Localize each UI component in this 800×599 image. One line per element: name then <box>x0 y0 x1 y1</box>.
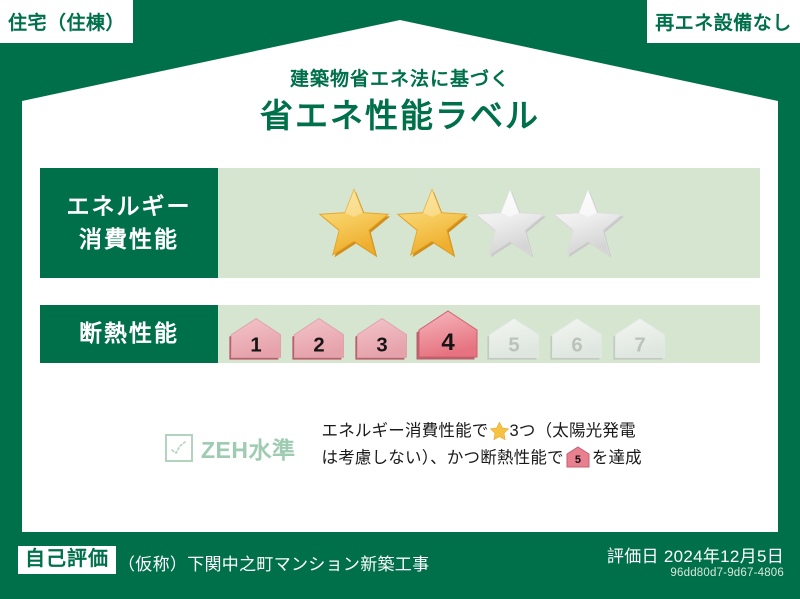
star-filled-icon <box>316 186 392 260</box>
insulation-performance-body: 1234567 <box>218 305 760 363</box>
energy-performance-label-line1: エネルギー <box>67 190 192 223</box>
building-type-tag: 住宅（住棟） <box>0 0 133 43</box>
star-filled-icon <box>394 186 470 260</box>
zeh-description: エネルギー消費性能で3つ（太陽光発電 は考慮しない）、かつ断熱性能で 5 を達成 <box>322 418 642 477</box>
energy-performance-label: 住宅（住棟） 再エネ設備なし 建築物省エネ法に基づく 省エネ性能ラベル エネルギ… <box>0 0 800 599</box>
title-subtitle: 建築物省エネ法に基づく <box>0 70 800 91</box>
insulation-level-number: 6 <box>571 335 582 357</box>
zeh-badge-label: ZEH水準 <box>201 431 296 465</box>
insulation-level-number: 3 <box>376 335 387 357</box>
insulation-level-2: 2 <box>289 316 349 360</box>
insulation-level-4: 4 <box>415 308 481 360</box>
self-evaluation-badge: 自己評価 <box>18 546 116 574</box>
zeh-desc-l1-b: 3つ（太陽光発電 <box>510 422 636 440</box>
insulation-level-number: 5 <box>508 335 519 357</box>
insulation-level-1: 1 <box>226 316 286 360</box>
evaluation-id: 96dd80d7-9d67-4806 <box>670 567 784 579</box>
energy-performance-label-box: エネルギー 消費性能 <box>40 168 218 278</box>
page-title: 省エネ性能ラベル <box>0 95 800 136</box>
star-empty-icon <box>472 186 548 260</box>
zeh-desc-l2-b: を達成 <box>592 449 642 467</box>
zeh-description-line1: エネルギー消費性能で3つ（太陽光発電 <box>322 418 642 445</box>
zeh-check-icon <box>165 434 193 462</box>
insulation-level-number: 7 <box>634 335 645 357</box>
star-rating <box>316 186 626 260</box>
star-empty-icon <box>550 186 626 260</box>
zeh-desc-l1-a: エネルギー消費性能で <box>322 422 489 440</box>
insulation-level-5: 5 <box>484 316 544 360</box>
title-block: 建築物省エネ法に基づく 省エネ性能ラベル <box>0 70 800 136</box>
footer-bar: 自己評価 （仮称）下関中之町マンション新築工事 評価日 2024年12月5日 9… <box>0 532 800 599</box>
building-type-tag-label: 住宅（住棟） <box>8 8 125 35</box>
insulation-performance-label: 断熱性能 <box>79 320 179 348</box>
insulation-performance-row: 断熱性能 1234567 <box>40 305 760 363</box>
zeh-desc-l2-a: は考慮しない）、かつ断熱性能で <box>322 449 564 467</box>
zeh-standard-row: ZEH水準 エネルギー消費性能で3つ（太陽光発電 は考慮しない）、かつ断熱性能で… <box>40 418 760 477</box>
evaluation-date: 評価日 2024年12月5日 <box>607 542 784 567</box>
insulation-level-number: 1 <box>250 335 261 357</box>
energy-performance-body <box>218 168 760 278</box>
insulation-level-number: 2 <box>313 335 324 357</box>
zeh-description-line2: は考慮しない）、かつ断熱性能で 5 を達成 <box>322 445 642 477</box>
insulation-performance-label-box: 断熱性能 <box>40 305 218 363</box>
renewable-energy-tag: 再エネ設備なし <box>647 0 800 43</box>
renewable-energy-tag-label: 再エネ設備なし <box>655 8 792 35</box>
energy-performance-label-line2: 消費性能 <box>79 223 179 256</box>
insulation-level-6: 6 <box>547 316 607 360</box>
project-name: （仮称）下関中之町マンション新築工事 <box>118 550 429 575</box>
zeh-badge: ZEH水準 <box>165 431 296 465</box>
svg-text:5: 5 <box>575 454 581 466</box>
insulation-level-7: 7 <box>610 316 670 360</box>
insulation-level-scale: 1234567 <box>226 308 670 360</box>
inline-house-icon: 5 <box>566 454 590 472</box>
insulation-level-3: 3 <box>352 316 412 360</box>
inline-star-icon <box>490 421 509 440</box>
insulation-level-number: 4 <box>441 329 455 356</box>
energy-performance-row: エネルギー 消費性能 <box>40 168 760 278</box>
